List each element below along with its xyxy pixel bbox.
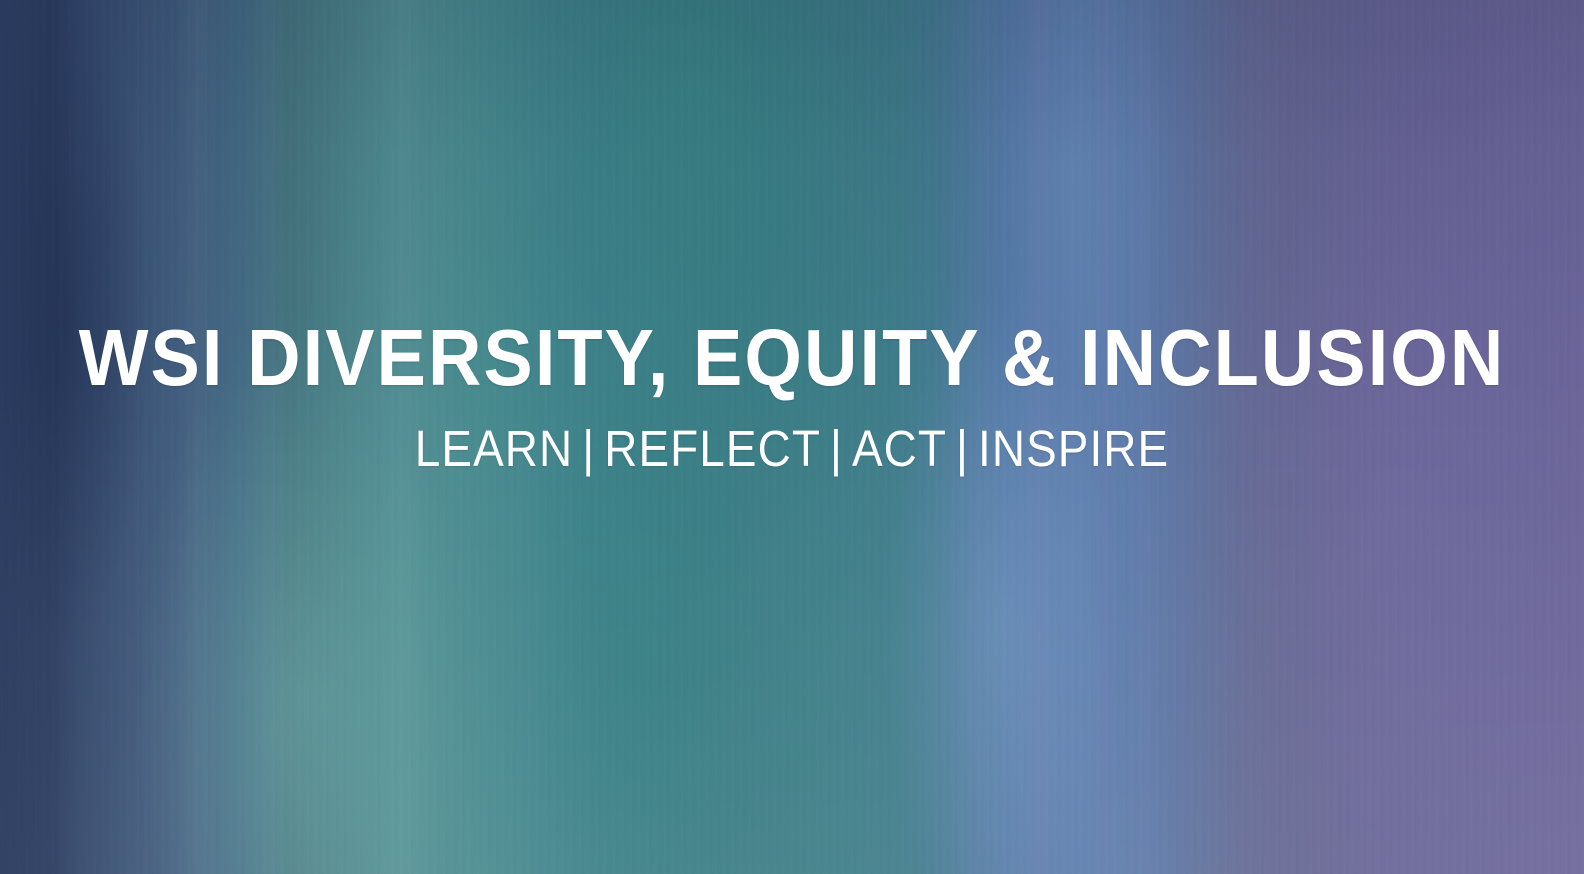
banner-headline: WSI DIVERSITY, EQUITY & INCLUSION xyxy=(59,318,1524,398)
subtitle-item-learn: LEARN xyxy=(415,420,573,477)
banner-text-block: WSI DIVERSITY, EQUITY & INCLUSION LEARN|… xyxy=(0,318,1584,474)
subtitle-item-reflect: REFLECT xyxy=(604,420,821,477)
dei-banner: WSI DIVERSITY, EQUITY & INCLUSION LEARN|… xyxy=(0,0,1584,874)
subtitle-separator-1: | xyxy=(573,420,604,477)
subtitle-item-act: ACT xyxy=(852,420,947,477)
subtitle-separator-2: | xyxy=(821,420,852,477)
subtitle-separator-3: | xyxy=(947,420,978,477)
subtitle-item-inspire: INSPIRE xyxy=(978,420,1169,477)
banner-subtitle: LEARN|REFLECT|ACT|INSPIRE xyxy=(79,423,1505,474)
